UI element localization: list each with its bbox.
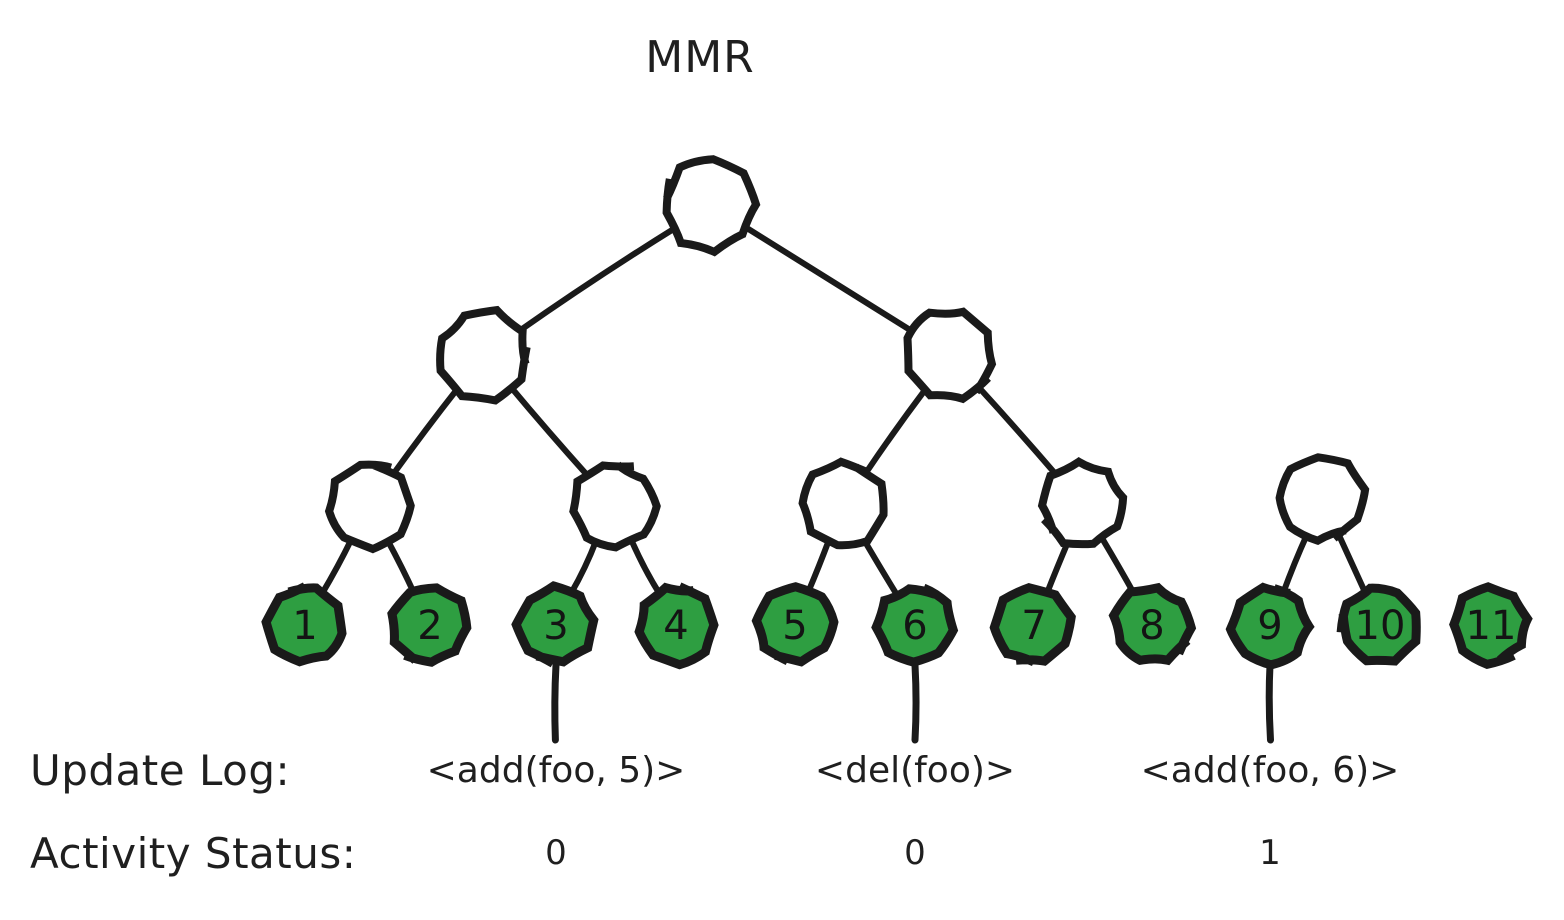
leaf-node-3[interactable]: 3 (516, 586, 594, 663)
update-log-row-label: Update Log: (30, 746, 290, 795)
update-log-entry-3: <add(foo, 5)> (427, 750, 686, 791)
leaf-node-11[interactable]: 11 (1454, 587, 1528, 664)
tree-edge (1338, 534, 1365, 594)
internal-node-n3c[interactable] (803, 462, 884, 545)
internal-node-n3b[interactable] (573, 465, 656, 548)
leaf-index-label: 6 (902, 603, 927, 649)
leaf-node-6[interactable]: 6 (876, 588, 953, 662)
internal-node-n3d[interactable] (1042, 462, 1123, 544)
activity-status-value-3: 0 (545, 833, 567, 873)
tree-edge (387, 540, 414, 594)
internal-node-n2l[interactable] (440, 310, 527, 400)
leaf-node-4[interactable]: 4 (639, 587, 714, 665)
leaf-index-label: 8 (1139, 603, 1164, 649)
leaf-index-label: 11 (1466, 603, 1517, 649)
tree-edge (808, 541, 829, 592)
activity-status-row-label: Activity Status: (30, 829, 356, 878)
leaf-index-label: 10 (1355, 603, 1406, 649)
leaf-node-5[interactable]: 5 (757, 587, 834, 662)
tree-edge (1283, 534, 1307, 593)
internal-node-n2r[interactable] (908, 312, 992, 399)
internal-node-root[interactable] (667, 159, 756, 252)
update-log-stalk-6 (915, 665, 916, 740)
mmr-tree-svg: 1234567891011 MMR Update Log: Activity S… (0, 0, 1564, 920)
leaf-index-label: 4 (663, 603, 688, 649)
leaf-node-1[interactable]: 1 (266, 587, 342, 662)
activity-status-values: 001 (545, 833, 1281, 873)
leaf-node-layer: 1234567891011 (266, 586, 1527, 665)
tree-edge (978, 386, 1057, 475)
activity-status-value-9: 1 (1259, 833, 1281, 873)
leaf-node-10[interactable]: 10 (1341, 588, 1416, 661)
tree-edge (1047, 541, 1068, 593)
leaf-index-label: 7 (1021, 603, 1046, 649)
tree-edge (747, 228, 915, 333)
leaf-index-label: 2 (417, 603, 442, 649)
tree-edge (571, 540, 596, 593)
diagram-title: MMR (645, 32, 755, 83)
tree-edge (518, 229, 674, 332)
tree-edge (866, 389, 926, 473)
tree-edge (394, 389, 458, 474)
leaf-node-9[interactable]: 9 (1231, 588, 1310, 665)
leaf-index-label: 9 (1257, 603, 1282, 649)
tree-edge (631, 540, 660, 595)
update-log-entry-6: <del(foo)> (815, 750, 1015, 791)
tree-edge (322, 539, 352, 594)
update-stalk-layer (555, 665, 1271, 740)
tree-edge (1102, 539, 1134, 595)
update-log-stalk-3 (555, 665, 556, 740)
update-log-stalk-9 (1269, 665, 1270, 740)
update-log-entry-9: <add(foo, 6)> (1141, 750, 1400, 791)
mmr-diagram-canvas: 1234567891011 MMR Update Log: Activity S… (0, 0, 1564, 920)
internal-node-n3a[interactable] (329, 465, 411, 549)
leaf-index-label: 3 (543, 603, 568, 649)
leaf-node-7[interactable]: 7 (994, 588, 1071, 662)
update-log-entries: <add(foo, 5)><del(foo)><add(foo, 6)> (427, 750, 1400, 791)
leaf-index-label: 1 (292, 603, 317, 649)
leaf-node-8[interactable]: 8 (1114, 588, 1192, 661)
internal-node-n3e[interactable] (1280, 457, 1366, 540)
leaf-index-label: 5 (782, 603, 807, 649)
leaf-node-2[interactable]: 2 (392, 588, 467, 662)
internal-node-layer (329, 159, 1365, 549)
tree-edge (511, 387, 588, 476)
activity-status-value-6: 0 (904, 833, 926, 873)
tree-edge (863, 538, 897, 595)
